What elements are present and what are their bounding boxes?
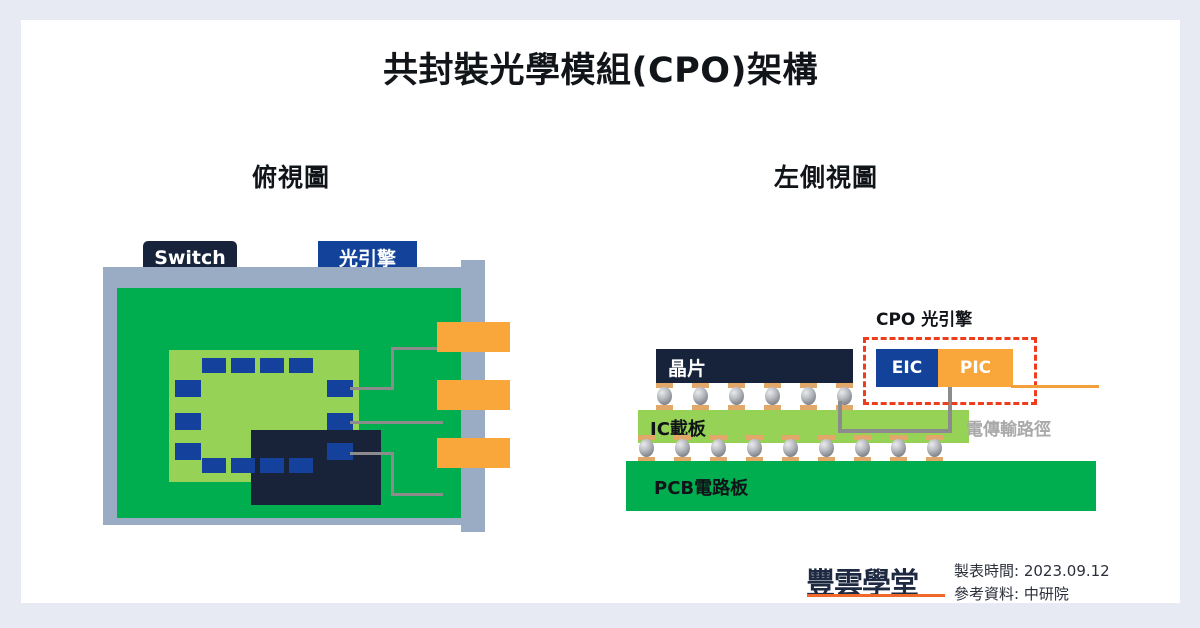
solder-ball — [854, 435, 871, 462]
footer: 豐雲學堂 製表時間: 2023.09.12 參考資料: 中研院 — [806, 558, 1166, 608]
page-title: 共封裝光學模組(CPO)架構 — [21, 42, 1180, 93]
optical-engine — [437, 438, 510, 468]
ic-substrate-top — [169, 350, 359, 482]
chip-label: 晶片 — [668, 354, 706, 381]
solder-ball — [764, 383, 781, 410]
optical-engine — [437, 380, 510, 410]
pcb-label: PCB電路板 — [654, 474, 748, 500]
pad — [260, 358, 284, 373]
content-card: 共封裝光學模組(CPO)架構 俯視圖 左側視圖 Switch 光引擎 — [21, 20, 1180, 603]
footer-source-label: 參考資料: — [954, 585, 1019, 603]
cpo-engine-caption: CPO 光引擎 — [876, 305, 1096, 330]
solder-ball — [692, 383, 709, 410]
pad — [289, 458, 313, 473]
solder-ball — [746, 435, 763, 462]
solder-ball — [926, 435, 943, 462]
optical-engine — [437, 322, 510, 352]
footer-date: 製表時間: 2023.09.12 — [954, 560, 1110, 581]
solder-ball — [818, 435, 835, 462]
trace — [391, 493, 443, 496]
top-view-title: 俯視圖 — [216, 158, 366, 194]
pad — [175, 443, 201, 460]
pic-block: PIC — [938, 349, 1013, 387]
footer-date-label: 製表時間: — [954, 562, 1019, 580]
pcb-board-top — [117, 288, 461, 518]
pad — [260, 458, 284, 473]
solder-ball — [638, 435, 655, 462]
electrical-path-segment — [838, 429, 952, 433]
pad — [231, 358, 255, 373]
pcb-board-block: PCB電路板 — [626, 461, 1096, 511]
trace — [391, 452, 394, 496]
trace — [391, 347, 394, 390]
solder-ball — [890, 435, 907, 462]
pad — [289, 358, 313, 373]
trace — [391, 347, 443, 350]
footer-source: 參考資料: 中研院 — [954, 583, 1069, 604]
eic-block: EIC — [876, 349, 938, 387]
solder-ball — [656, 383, 673, 410]
pad — [202, 358, 226, 373]
footer-source-value: 中研院 — [1024, 585, 1069, 603]
side-view-title: 左側視圖 — [746, 158, 906, 194]
pad — [202, 458, 226, 473]
optical-fiber-line — [1011, 385, 1099, 388]
footer-date-value: 2023.09.12 — [1024, 562, 1110, 580]
top-view-diagram — [103, 260, 503, 532]
trace — [350, 452, 394, 455]
brand-logo-underline — [807, 594, 945, 597]
electrical-path-label: 電傳輸路徑 — [966, 415, 1051, 440]
solder-ball — [728, 383, 745, 410]
pad — [175, 413, 201, 430]
solder-ball — [800, 383, 817, 410]
module-frame — [103, 267, 475, 525]
solder-ball — [782, 435, 799, 462]
solder-ball — [674, 435, 691, 462]
side-view-diagram: CPO 光引擎 晶片 IC載板 P — [626, 305, 1126, 535]
solder-ball — [710, 435, 727, 462]
chip-block: 晶片 — [656, 349, 853, 383]
pad — [231, 458, 255, 473]
trace — [350, 387, 394, 390]
pad — [175, 380, 201, 397]
trace — [350, 421, 443, 424]
